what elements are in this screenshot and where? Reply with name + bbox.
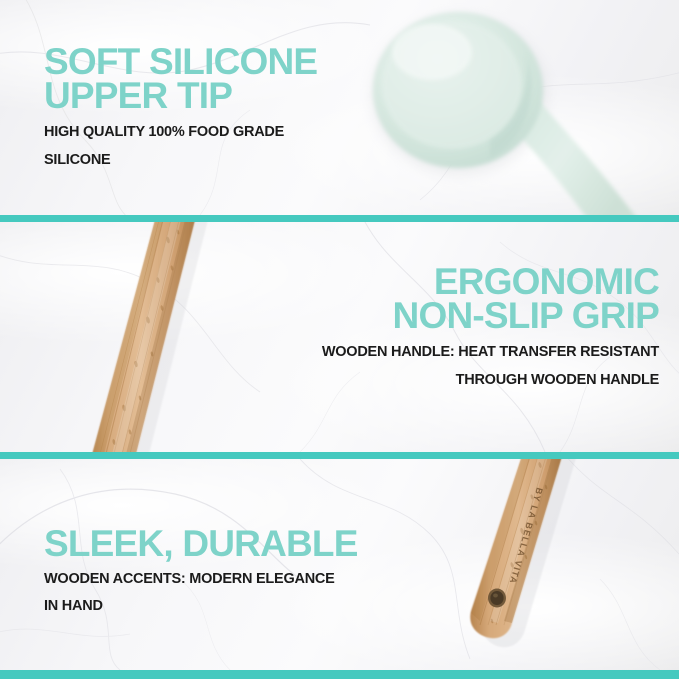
panel-1-subhead-line-1: HIGH QUALITY 100% FOOD GRADE (44, 124, 317, 141)
panel-3-heading-line-1: SLEEK, DURABLE (44, 527, 358, 561)
panel-1-subhead-line-2: SILICONE (44, 152, 317, 169)
panel-2-heading-line-2: NON-SLIP GRIP (322, 299, 659, 333)
panel-3-subhead-line-1: WOODEN ACCENTS: MODERN ELEGANCE (44, 571, 358, 588)
panel-2-subhead-line-2: THROUGH WOODEN HANDLE (322, 372, 659, 389)
panel-3-text-block: SLEEK, DURABLE WOODEN ACCENTS: MODERN EL… (44, 527, 358, 616)
teal-divider-bar-2 (0, 452, 679, 459)
feature-panel-sleek-durable: BY LA BELLA VITA SLEEK, DURABLE WOODEN A… (0, 459, 679, 670)
feature-panel-soft-silicone: SOFT SILICONE UPPER TIP HIGH QUALITY 100… (0, 0, 679, 215)
product-feature-infographic: SOFT SILICONE UPPER TIP HIGH QUALITY 100… (0, 0, 679, 679)
feature-panel-ergonomic-grip: ERGONOMIC NON-SLIP GRIP WOODEN HANDLE: H… (0, 222, 679, 452)
teal-divider-bar-1 (0, 215, 679, 222)
teal-divider-bar-3 (0, 670, 679, 679)
panel-1-heading-line-2: UPPER TIP (44, 79, 317, 113)
panel-1-heading-line-1: SOFT SILICONE (44, 45, 317, 79)
panel-2-text-block: ERGONOMIC NON-SLIP GRIP WOODEN HANDLE: H… (322, 265, 659, 390)
panel-2-subhead-line-1: WOODEN HANDLE: HEAT TRANSFER RESISTANT (322, 344, 659, 361)
panel-1-text-block: SOFT SILICONE UPPER TIP HIGH QUALITY 100… (44, 45, 317, 170)
panel-2-heading-line-1: ERGONOMIC (322, 265, 659, 299)
panel-3-subhead-line-2: IN HAND (44, 598, 358, 615)
